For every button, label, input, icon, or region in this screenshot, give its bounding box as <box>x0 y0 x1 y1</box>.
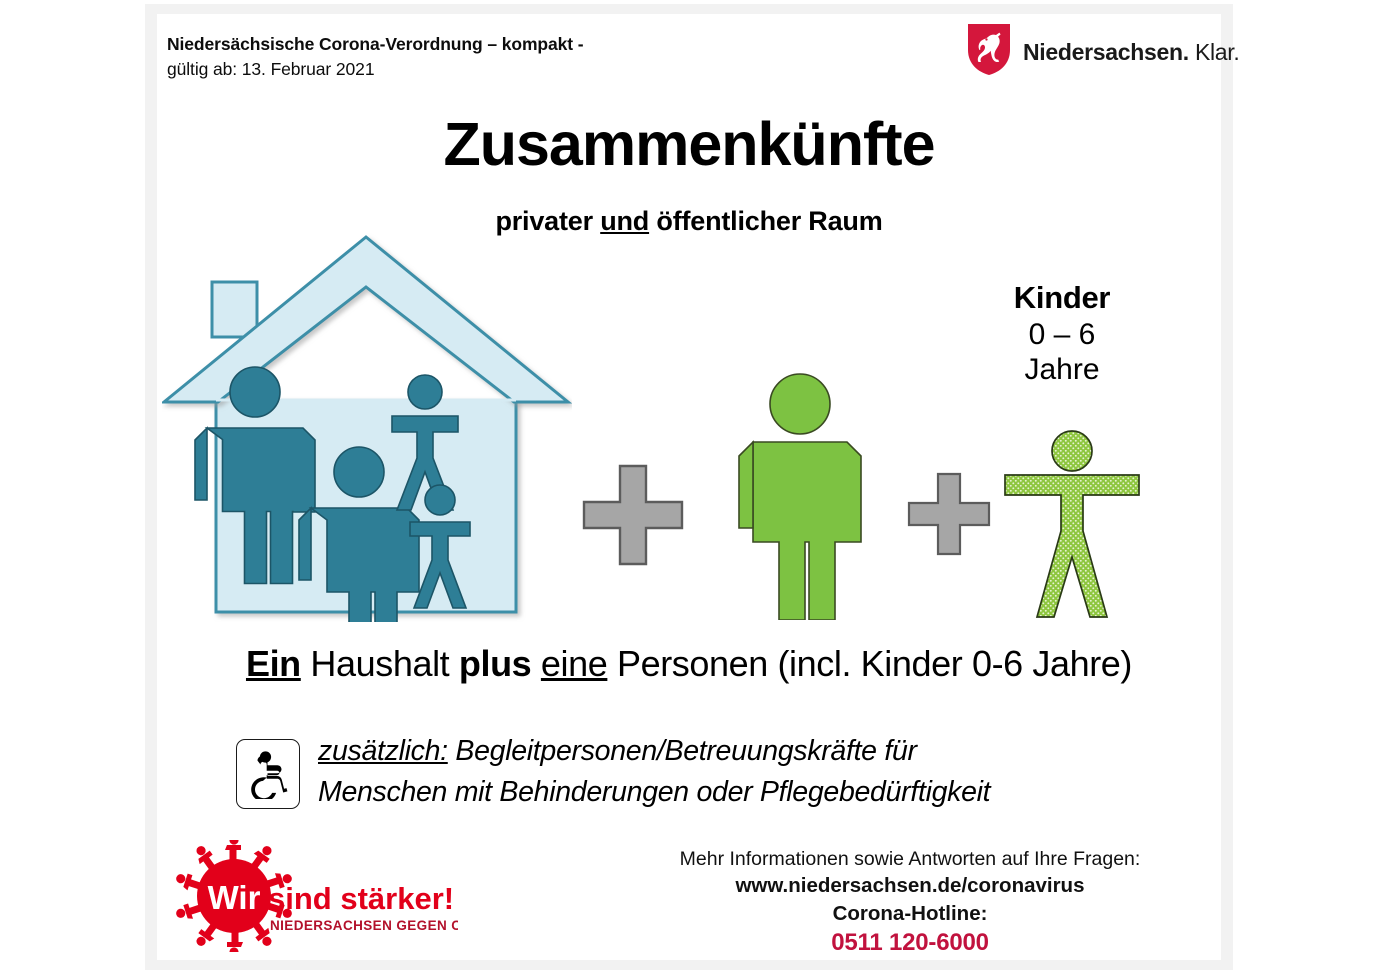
accessibility-note-line2: Menschen mit Behinderungen oder Pflegebe… <box>318 772 990 813</box>
footer-contact-block: Mehr Informationen sowie Antworten auf I… <box>600 846 1220 959</box>
household-house-graphic <box>162 232 572 627</box>
accessibility-note-line1-rest: Begleitpersonen/Betreuungskräfte für <box>448 735 917 767</box>
illustration-row: Kinder 0 – 6 Jahre <box>157 232 1221 632</box>
regulation-title: Niedersächsische Corona-Verordnung – kom… <box>167 32 927 57</box>
rule-segment-plus: plus <box>459 643 531 684</box>
header-meta: Niedersächsische Corona-Verordnung – kom… <box>167 32 927 83</box>
kinder-label-line2: 0 – 6 <box>947 317 1177 352</box>
kinder-label-line3: Jahre <box>947 352 1177 387</box>
accessibility-note: zusätzlich: Begleitpersonen/Betreuungskr… <box>236 731 990 813</box>
accessibility-note-lead: zusätzlich: <box>318 735 448 767</box>
rule-segment-haushalt: Haushalt <box>301 643 459 684</box>
logo-bold-text: Niedersachsen. <box>1023 39 1189 65</box>
niedersachsen-wordmark: Niedersachsen. Klar. <box>1023 39 1239 66</box>
footer-info-line: Mehr Informationen sowie Antworten auf I… <box>600 846 1220 872</box>
plus-sign-large-icon <box>580 462 686 573</box>
valid-from-date: gültig ab: 13. Februar 2021 <box>167 57 927 82</box>
footer-hotline-number[interactable]: 0511 120-6000 <box>600 927 1220 959</box>
wheelchair-accessibility-icon <box>236 739 300 809</box>
niedersachsen-logo: Niedersachsen. Klar. <box>966 22 1239 82</box>
footer-hotline-label: Corona-Hotline: <box>600 900 1220 927</box>
rule-segment-personen: Personen (incl. Kinder 0-6 Jahre) <box>607 643 1132 684</box>
accessibility-note-line1: zusätzlich: Begleitpersonen/Betreuungskr… <box>318 731 990 772</box>
rule-segment-ein: Ein <box>246 643 301 684</box>
infographic-page: Niedersächsische Corona-Verordnung – kom… <box>0 0 1380 976</box>
main-rule-statement: Ein Haushalt plus eine Personen (incl. K… <box>157 643 1221 685</box>
rule-segment-space <box>531 643 541 684</box>
logo-regular-text: Klar. <box>1195 39 1240 65</box>
page-title: Zusammenkünfte <box>157 114 1221 175</box>
plus-sign-small-icon <box>905 470 993 563</box>
kinder-age-label: Kinder 0 – 6 Jahre <box>947 280 1177 387</box>
wir-sind-staerker-logo: Wir sind stärker! NIEDERSACHSEN GEGEN CO… <box>168 840 458 952</box>
green-adult-figure <box>735 372 865 625</box>
wir-tagline: NIEDERSACHSEN GEGEN CORONA <box>270 918 458 933</box>
wir-headline-rest: sind stärker! <box>268 881 454 916</box>
rule-segment-eine: eine <box>541 643 607 684</box>
niedersachsen-coat-of-arms-icon <box>966 22 1012 82</box>
wir-circle-word: Wir <box>208 879 261 916</box>
green-child-figure <box>997 427 1147 628</box>
footer-website-link[interactable]: www.niedersachsen.de/coronavirus <box>600 872 1220 899</box>
accessibility-note-text: zusätzlich: Begleitpersonen/Betreuungskr… <box>318 731 990 813</box>
kinder-label-line1: Kinder <box>947 280 1177 317</box>
